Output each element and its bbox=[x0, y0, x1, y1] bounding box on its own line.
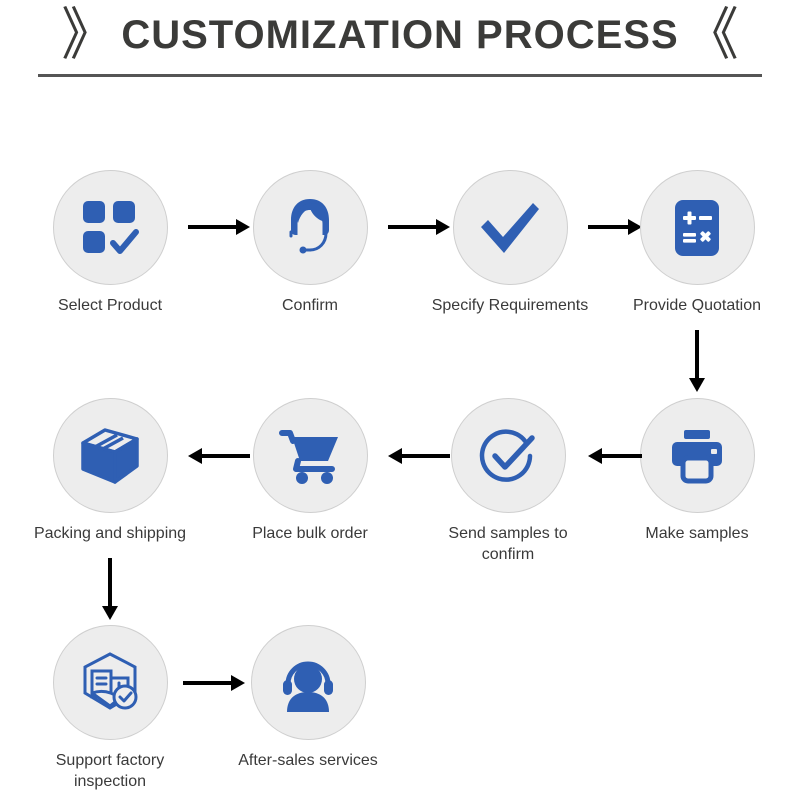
arrow-shaft bbox=[183, 681, 231, 685]
step-icon-circle bbox=[640, 170, 755, 285]
calculator-icon bbox=[666, 197, 728, 259]
package-box-icon bbox=[77, 425, 143, 487]
arrow-shaft bbox=[202, 454, 250, 458]
process-step-specify-requirements[interactable]: Specify Requirements bbox=[430, 170, 590, 316]
arrow-step5-to-step6 bbox=[588, 449, 642, 463]
process-step-after-sales-services[interactable]: After-sales services bbox=[228, 625, 388, 771]
step-label: Place bulk order bbox=[252, 523, 368, 544]
process-flow-diagram: Select Product Confirm S bbox=[0, 0, 800, 800]
step-icon-circle bbox=[453, 170, 568, 285]
factory-inspection-shield-icon bbox=[77, 650, 143, 716]
process-step-select-product[interactable]: Select Product bbox=[30, 170, 190, 316]
process-step-packing-and-shipping[interactable]: Packing and shipping bbox=[30, 398, 190, 544]
process-step-place-bulk-order[interactable]: Place bulk order bbox=[230, 398, 390, 544]
headset-support-icon bbox=[277, 652, 339, 714]
step-label: Provide Quotation bbox=[633, 295, 761, 316]
circle-check-icon bbox=[475, 423, 541, 489]
arrow-shaft bbox=[388, 225, 436, 229]
arrow-step6-to-step7 bbox=[388, 449, 450, 463]
process-step-support-factory-inspection[interactable]: Support factory inspection bbox=[30, 625, 190, 792]
arrow-shaft bbox=[402, 454, 450, 458]
arrow-shaft bbox=[188, 225, 236, 229]
step-label: Specify Requirements bbox=[432, 295, 589, 316]
process-step-make-samples[interactable]: Make samples bbox=[617, 398, 777, 544]
step-icon-circle bbox=[53, 625, 168, 740]
step-label: After-sales services bbox=[238, 750, 378, 771]
step-label: Confirm bbox=[282, 295, 338, 316]
arrow-head bbox=[188, 448, 202, 464]
arrow-shaft bbox=[695, 330, 699, 378]
arrow-head bbox=[388, 448, 402, 464]
arrow-head bbox=[102, 606, 118, 620]
shopping-cart-icon bbox=[278, 424, 342, 488]
step-icon-circle bbox=[253, 170, 368, 285]
arrow-shaft bbox=[108, 558, 112, 606]
step-icon-circle bbox=[251, 625, 366, 740]
customer-service-agent-icon bbox=[277, 195, 343, 261]
arrow-step8-to-step9 bbox=[103, 558, 117, 620]
arrow-head bbox=[689, 378, 705, 392]
process-step-send-samples-to-confirm[interactable]: Send samples to confirm bbox=[428, 398, 588, 565]
step-label: Select Product bbox=[58, 295, 162, 316]
arrow-shaft bbox=[602, 454, 642, 458]
step-label: Send samples to confirm bbox=[428, 523, 588, 565]
step-label: Support factory inspection bbox=[56, 750, 165, 792]
arrow-step7-to-step8 bbox=[188, 449, 250, 463]
printer-icon bbox=[666, 425, 728, 487]
step-icon-circle bbox=[53, 170, 168, 285]
grid-check-icon bbox=[79, 197, 141, 259]
process-step-provide-quotation[interactable]: Provide Quotation bbox=[617, 170, 777, 316]
arrow-step4-to-step5 bbox=[690, 330, 704, 392]
checkmark-icon bbox=[475, 193, 545, 263]
process-step-confirm[interactable]: Confirm bbox=[230, 170, 390, 316]
step-icon-circle bbox=[451, 398, 566, 513]
step-icon-circle bbox=[253, 398, 368, 513]
arrow-head bbox=[588, 448, 602, 464]
step-icon-circle bbox=[53, 398, 168, 513]
step-icon-circle bbox=[640, 398, 755, 513]
step-label: Packing and shipping bbox=[34, 523, 186, 544]
step-label: Make samples bbox=[645, 523, 748, 544]
